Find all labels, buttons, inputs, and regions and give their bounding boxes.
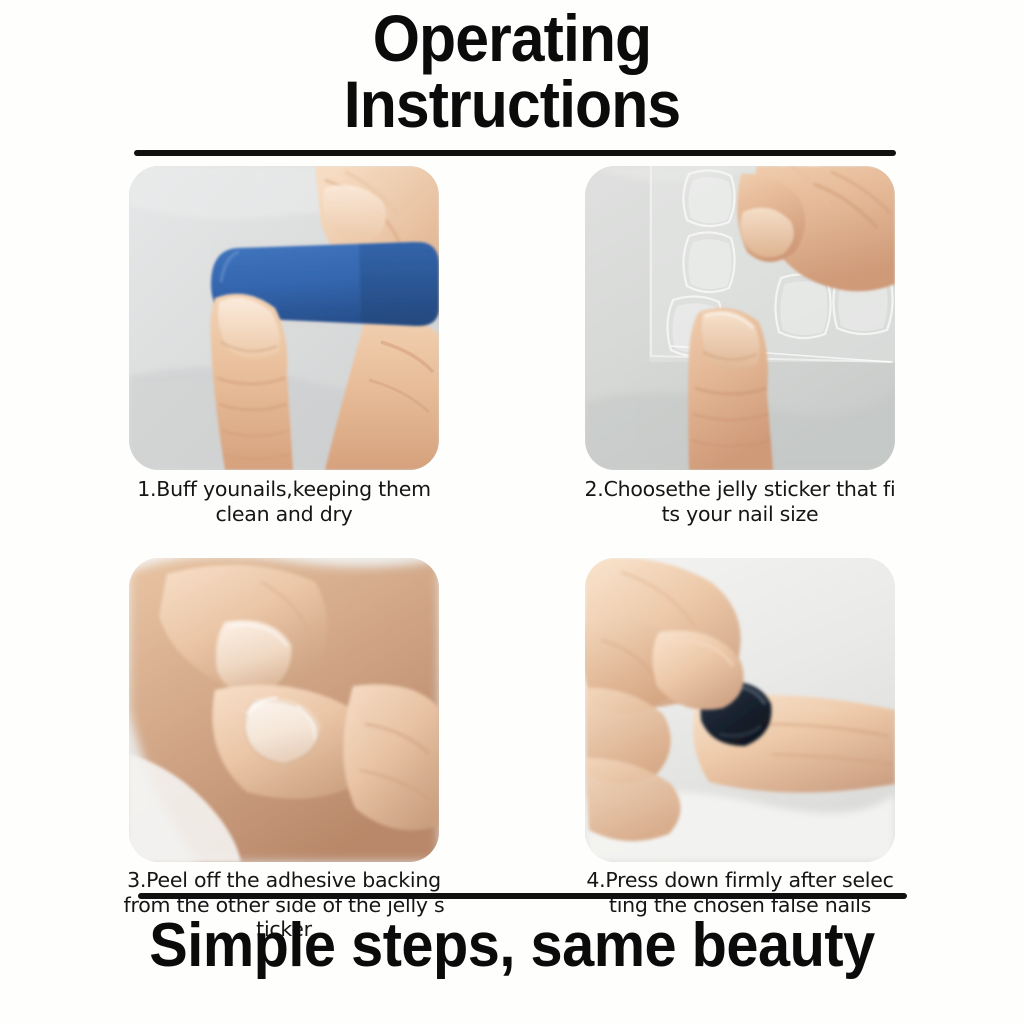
step-photo-4 (585, 558, 895, 862)
divider-bottom (138, 893, 907, 899)
page-title: Operating Instructions (0, 6, 1024, 136)
step-item-3: 3.Peel off the adhesive backing from the… (129, 558, 439, 942)
step-item-4: 4.Press down firmly after selec ting the… (585, 558, 895, 942)
footer-tagline: Simple steps, same beauty (0, 910, 1024, 982)
press-false-nail-illustration (585, 558, 895, 862)
page-title-line-1: Operating (41, 6, 983, 70)
footer-tagline-text: Simple steps, same beauty (36, 910, 988, 982)
step-item-2: 2.Choosethe jelly sticker that fi ts you… (585, 166, 895, 526)
step-photo-2 (585, 166, 895, 470)
step-item-1: 1.Buff younails,keeping them clean and d… (129, 166, 439, 526)
buff-nail-illustration (129, 166, 439, 470)
step-caption-2: 2.Choosethe jelly sticker that fi ts you… (575, 477, 905, 526)
divider-top (134, 150, 896, 156)
peel-backing-illustration (129, 558, 439, 862)
steps-row-1: 1.Buff younails,keeping them clean and d… (0, 166, 1024, 526)
page-title-line-2: Instructions (41, 72, 983, 136)
step-caption-1: 1.Buff younails,keeping them clean and d… (119, 477, 449, 526)
steps-row-2: 3.Peel off the adhesive backing from the… (0, 558, 1024, 942)
step-photo-1 (129, 166, 439, 470)
steps-grid: 1.Buff younails,keeping them clean and d… (0, 166, 1024, 942)
instructions-page: Operating Instructions (0, 0, 1024, 1024)
step-photo-3 (129, 558, 439, 862)
jelly-sticker-sheet-illustration (585, 166, 895, 470)
